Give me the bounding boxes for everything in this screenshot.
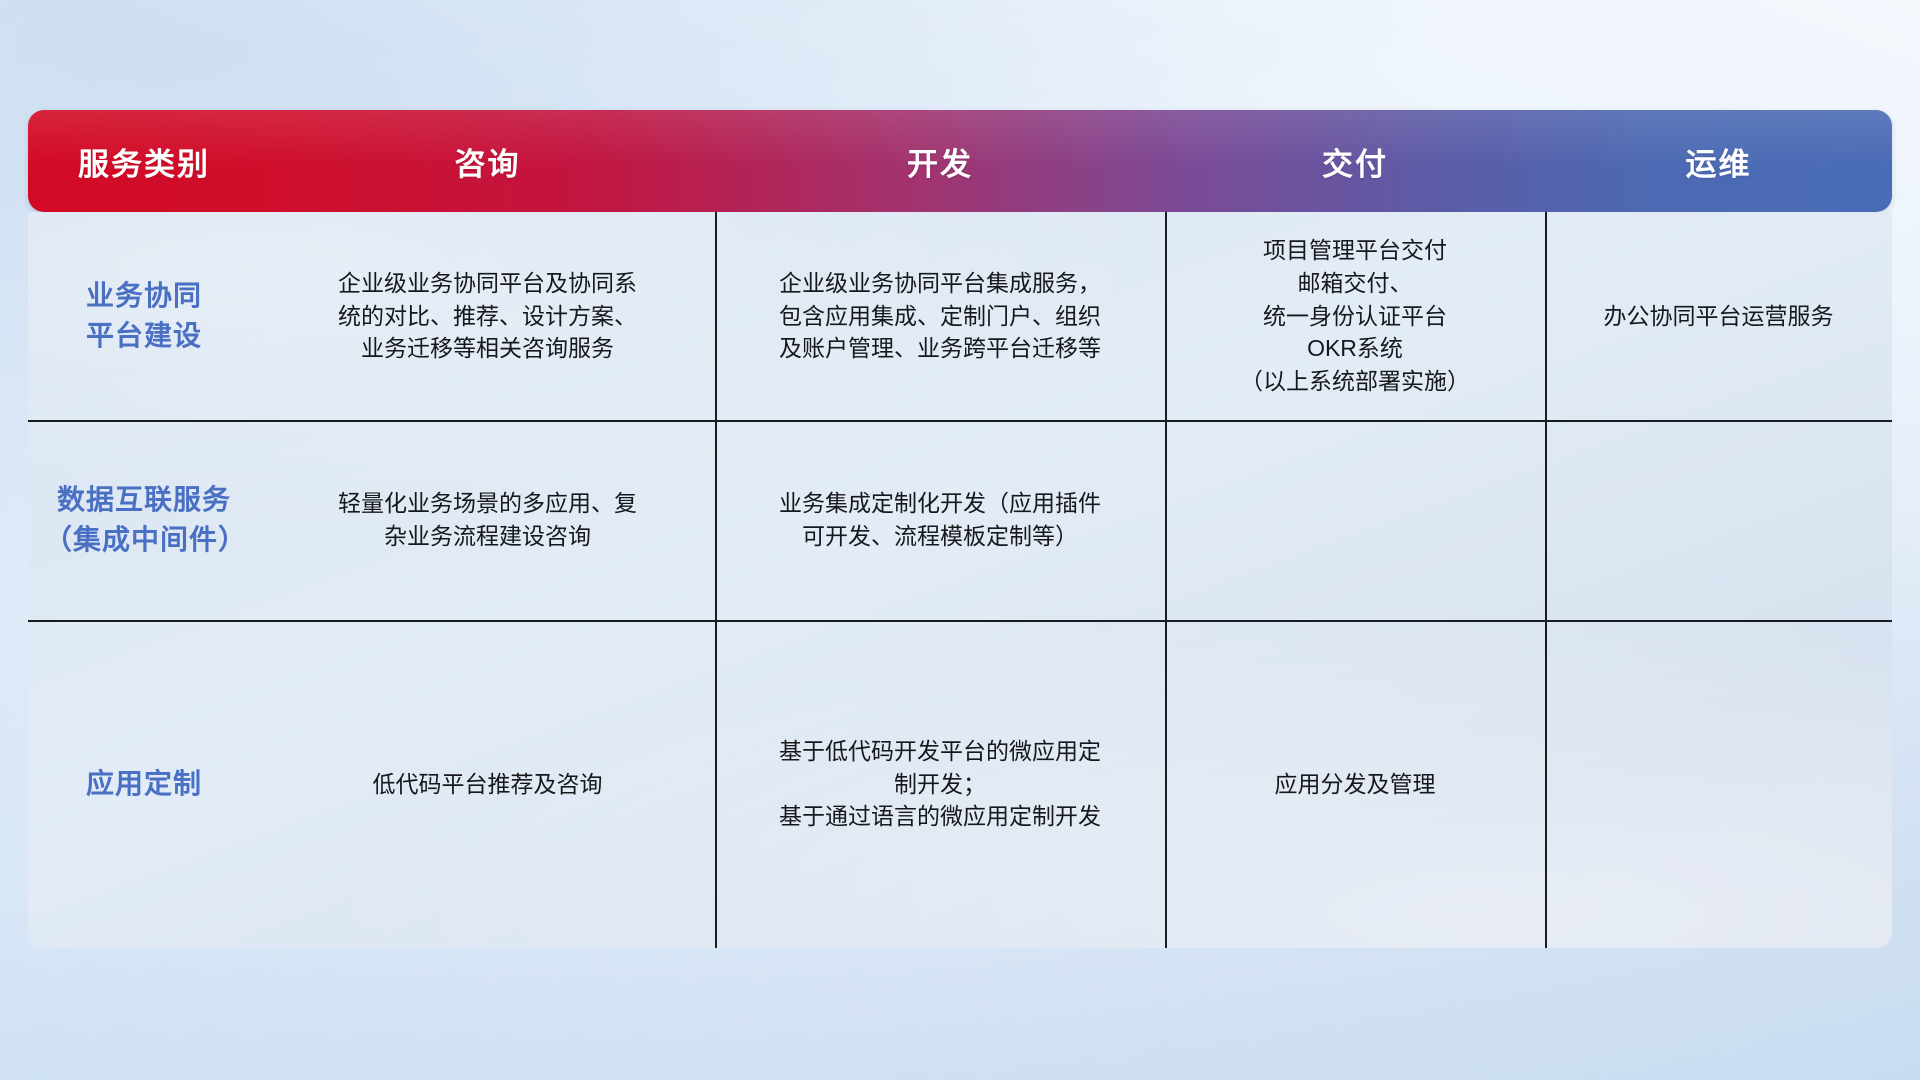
table-row: 应用定制 低代码平台推荐及咨询 基于低代码开发平台的微应用定 制开发； 基于通过… — [28, 620, 1892, 948]
row-label-business-collaboration: 业务协同 平台建设 — [28, 212, 260, 420]
column-header-category: 服务类别 — [28, 139, 260, 184]
column-divider-3 — [1545, 212, 1547, 948]
row-label-application-customization: 应用定制 — [28, 620, 260, 948]
cell-row1-operations: 办公协同平台运营服务 — [1545, 212, 1892, 420]
table-body: 业务协同 平台建设 企业级业务协同平台及协同系 统的对比、推荐、设计方案、 业务… — [28, 212, 1892, 948]
column-header-delivery: 交付 — [1165, 139, 1545, 184]
cell-row3-development: 基于低代码开发平台的微应用定 制开发； 基于通过语言的微应用定制开发 — [715, 620, 1165, 948]
cell-row3-delivery: 应用分发及管理 — [1165, 620, 1545, 948]
cell-row2-consulting: 轻量化业务场景的多应用、复 杂业务流程建设咨询 — [260, 420, 715, 620]
column-header-operations: 运维 — [1545, 139, 1892, 184]
column-header-development: 开发 — [715, 139, 1165, 184]
cell-row2-operations — [1545, 420, 1892, 620]
cell-row3-consulting: 低代码平台推荐及咨询 — [260, 620, 715, 948]
row-label-data-interconnection: 数据互联服务 （集成中间件） — [28, 420, 260, 620]
cell-row1-consulting: 企业级业务协同平台及协同系 统的对比、推荐、设计方案、 业务迁移等相关咨询服务 — [260, 212, 715, 420]
table-header-row: 服务类别 咨询 开发 交付 运维 — [28, 110, 1892, 212]
column-divider-1 — [715, 212, 717, 948]
cell-row1-delivery: 项目管理平台交付 邮箱交付、 统一身份认证平台 OKR系统 （以上系统部署实施） — [1165, 212, 1545, 420]
table-row: 数据互联服务 （集成中间件） 轻量化业务场景的多应用、复 杂业务流程建设咨询 业… — [28, 420, 1892, 620]
cell-row2-development: 业务集成定制化开发（应用插件 可开发、流程模板定制等） — [715, 420, 1165, 620]
row-divider-1 — [28, 420, 1892, 422]
service-category-table: 服务类别 咨询 开发 交付 运维 业务协同 平台建设 企业级业务协同平台及协同系… — [28, 110, 1892, 948]
cell-row3-operations — [1545, 620, 1892, 948]
row-divider-2 — [28, 620, 1892, 622]
table-row: 业务协同 平台建设 企业级业务协同平台及协同系 统的对比、推荐、设计方案、 业务… — [28, 212, 1892, 420]
column-header-consulting: 咨询 — [260, 139, 715, 184]
column-divider-2 — [1165, 212, 1167, 948]
cell-row1-development: 企业级业务协同平台集成服务， 包含应用集成、定制门户、组织 及账户管理、业务跨平… — [715, 212, 1165, 420]
cell-row2-delivery — [1165, 420, 1545, 620]
